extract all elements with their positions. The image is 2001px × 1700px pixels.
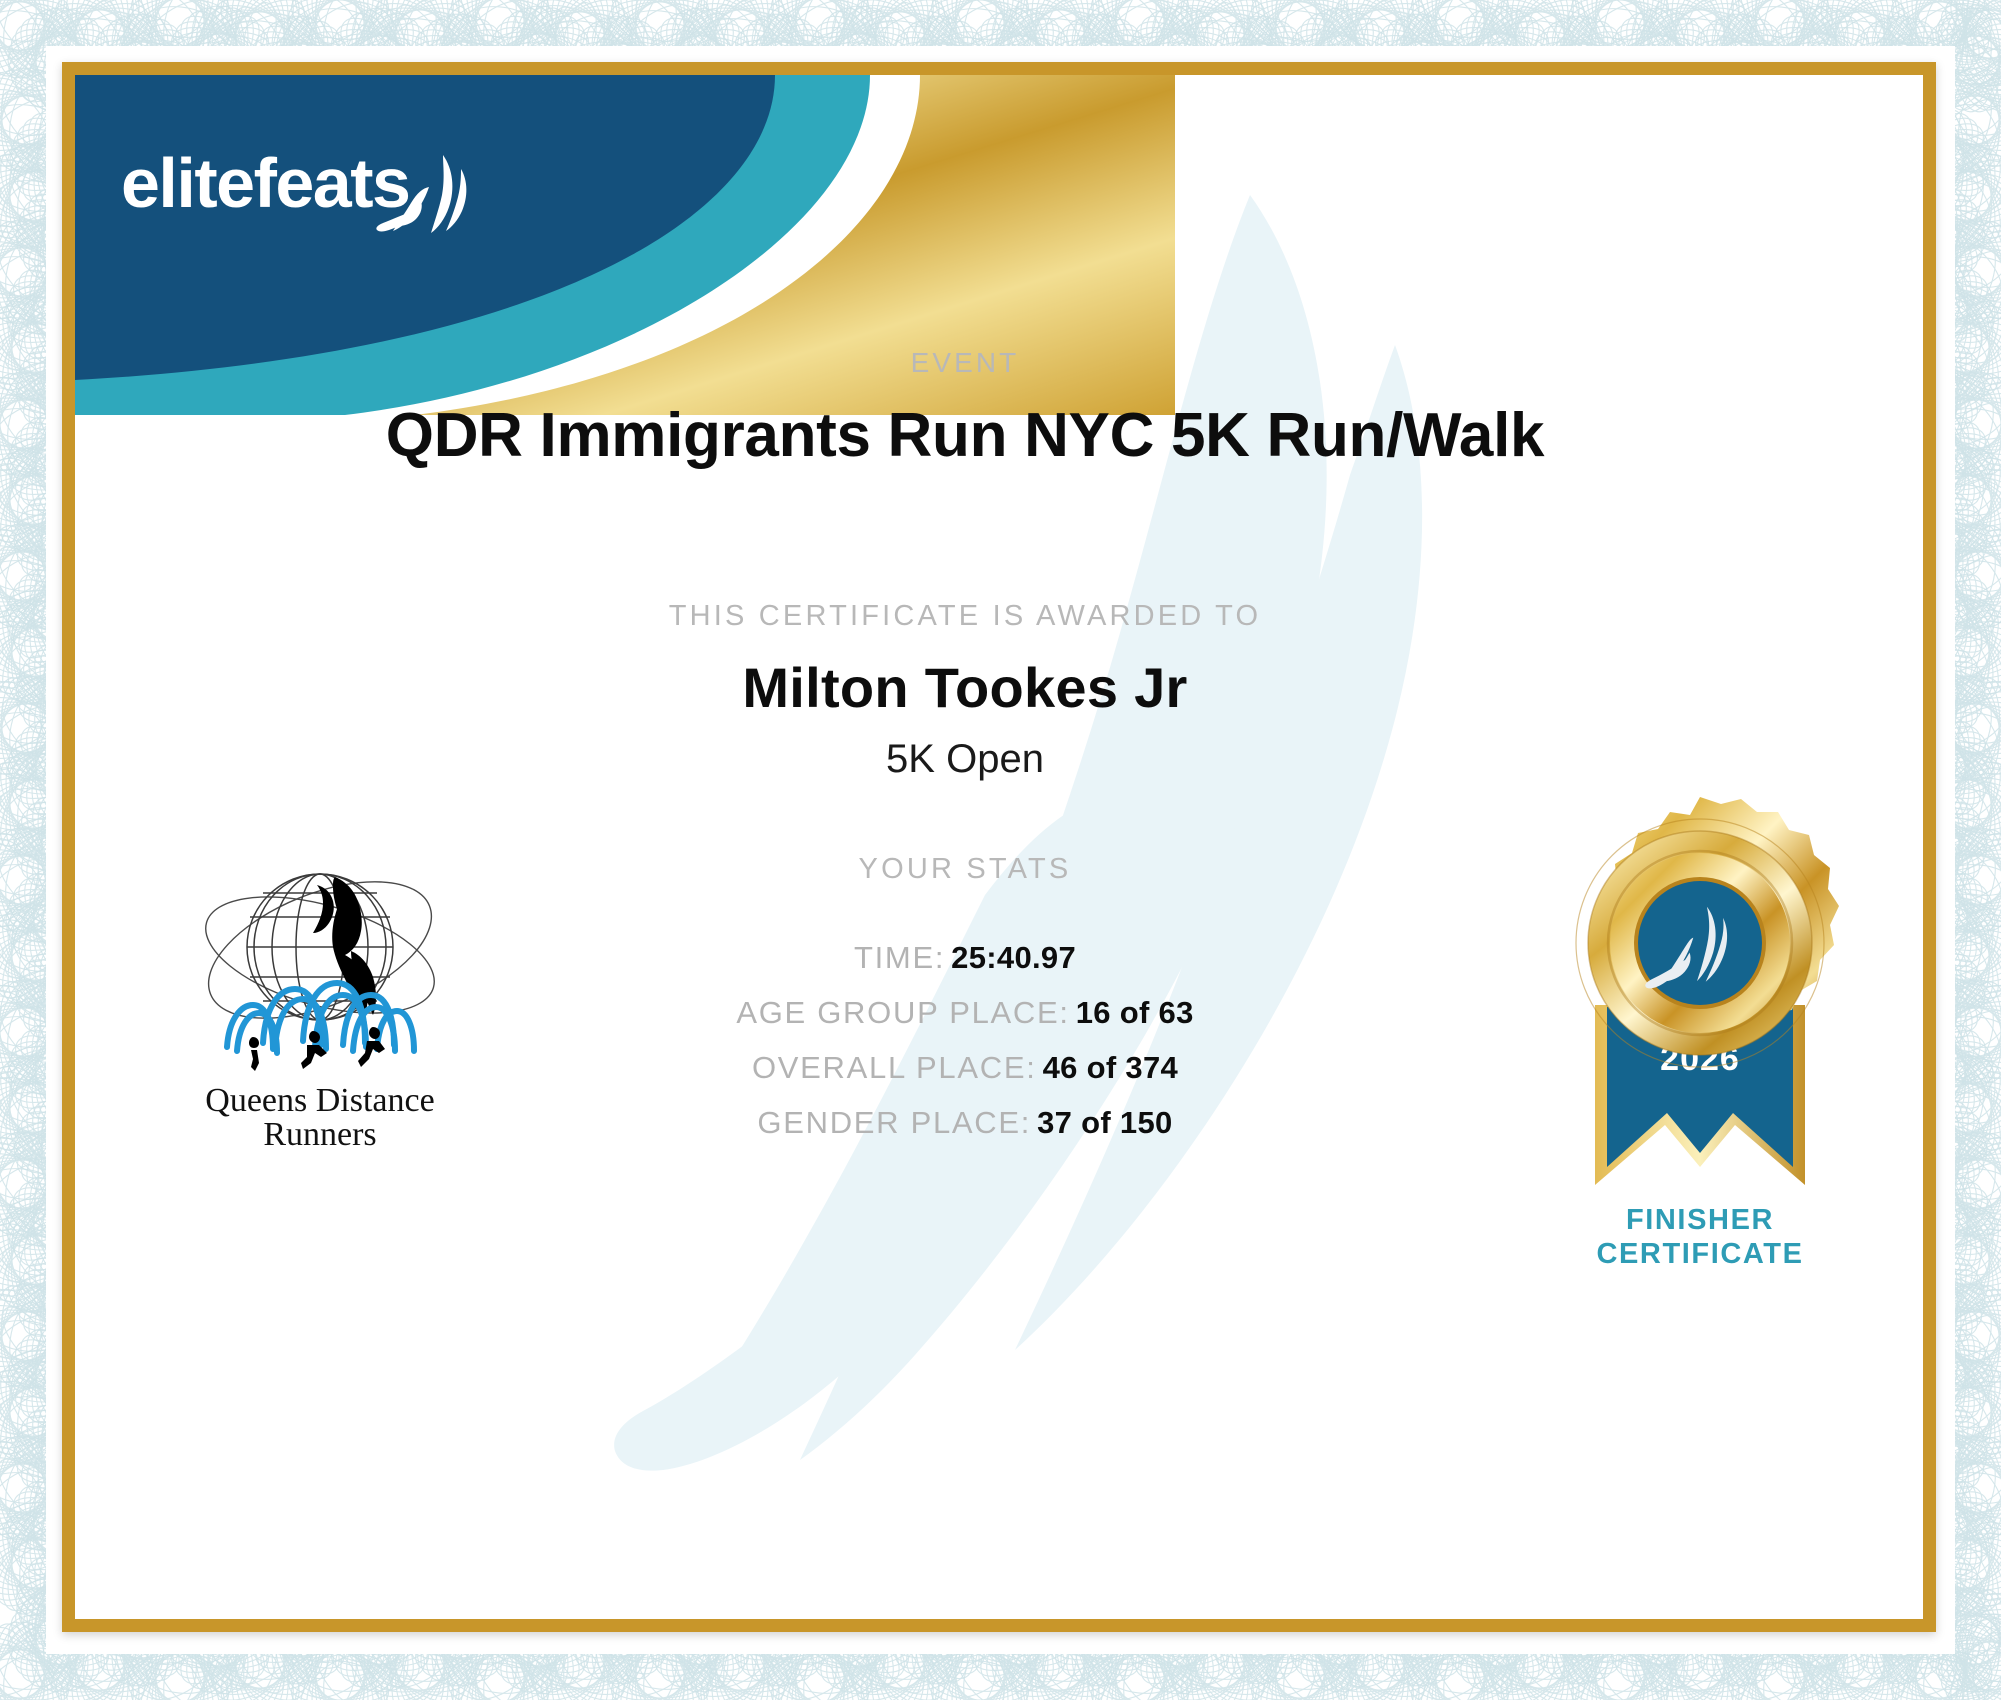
stat-value: 46 of 374 — [1043, 1050, 1178, 1085]
medal-caption-line1: FINISHER — [1495, 1203, 1905, 1237]
certificate-frame: elitefeats — [62, 62, 1936, 1632]
queens-distance-runners-logo: Queens Distance Runners — [185, 855, 455, 1150]
medal-caption-line2: CERTIFICATE — [1495, 1237, 1905, 1271]
stat-key: OVERALL PLACE: — [752, 1050, 1037, 1085]
awarded-to-label: THIS CERTIFICATE IS AWARDED TO — [75, 600, 1855, 633]
stat-key: AGE GROUP PLACE: — [736, 995, 1069, 1030]
stat-key: GENDER PLACE: — [757, 1105, 1031, 1140]
elitefeats-logo: elitefeats — [121, 135, 501, 243]
finisher-medal-badge: 2026 — [1535, 795, 1865, 1195]
stat-value: 25:40.97 — [951, 940, 1076, 975]
stat-key: TIME: — [854, 940, 945, 975]
medal-caption: FINISHER CERTIFICATE — [1495, 1203, 1905, 1271]
recipient-division: 5K Open — [75, 737, 1855, 782]
recipient-name: Milton Tookes Jr — [75, 655, 1855, 720]
event-title: QDR Immigrants Run NYC 5K Run/Walk — [75, 400, 1855, 471]
club-logo-line2: Runners — [263, 1116, 376, 1150]
stat-value: 37 of 150 — [1037, 1105, 1172, 1140]
certificate-page: elitefeats — [0, 0, 2001, 1700]
club-logo-line1: Queens Distance — [205, 1082, 434, 1119]
stat-value: 16 of 63 — [1076, 995, 1194, 1030]
svg-text:elitefeats: elitefeats — [121, 144, 409, 222]
event-label: EVENT — [75, 347, 1855, 379]
